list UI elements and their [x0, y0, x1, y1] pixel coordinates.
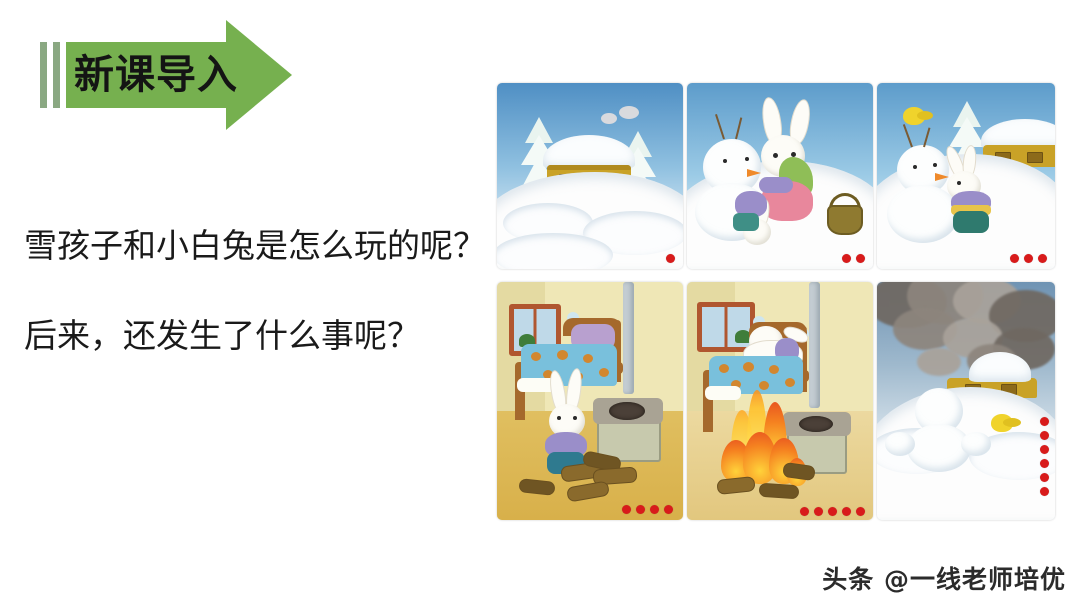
- picture-panel-6[interactable]: [877, 282, 1055, 520]
- panel-4-dots: [622, 505, 673, 514]
- dot: [828, 507, 837, 516]
- dot: [856, 507, 865, 516]
- picture-panel-4[interactable]: [497, 282, 683, 520]
- quilt-dot: [785, 378, 795, 387]
- yellow-bird-wing: [917, 111, 933, 120]
- snowman-eye-left: [913, 165, 917, 169]
- snow-child-arm-right: [961, 432, 991, 456]
- panel-6-dots: [1040, 417, 1049, 496]
- stove-pipe: [623, 282, 634, 394]
- rabbit-pants: [953, 211, 989, 233]
- rabbit-eye: [957, 181, 961, 185]
- dot: [1040, 459, 1049, 468]
- quilt-dot: [599, 368, 609, 377]
- picture-grid: [497, 83, 1055, 520]
- quilt-dot: [719, 364, 729, 373]
- question-list: 雪孩子和小白兔是怎么玩的呢？ 后来，还发生了什么事呢？: [24, 222, 484, 360]
- watermark: 头条 @一线老师培优: [822, 560, 1066, 596]
- snowman-eye-right: [933, 163, 937, 167]
- section-banner: 新课导入: [40, 20, 300, 130]
- quilt-dot: [557, 350, 568, 360]
- rabbit-eye-left: [557, 416, 561, 420]
- scene-burning-house-smoke-snowman: [877, 282, 1055, 520]
- dot: [666, 254, 675, 263]
- dot: [1040, 431, 1049, 440]
- quilt-dot: [759, 381, 769, 390]
- snowman-carrot-nose: [747, 169, 761, 177]
- scene-snow-covered-house: [497, 83, 683, 269]
- banner-accent-bar-2: [53, 42, 60, 108]
- dot: [636, 505, 645, 514]
- panel-5-dots: [800, 507, 865, 516]
- snowman-eye-left: [723, 159, 727, 163]
- scene-bedroom-fire-rabbit-sleeping: [687, 282, 873, 520]
- dot: [1040, 487, 1049, 496]
- dot: [856, 254, 865, 263]
- baby-rabbit-pants: [733, 213, 759, 231]
- house-window-2: [1027, 152, 1043, 163]
- dot: [1024, 254, 1033, 263]
- dot: [1010, 254, 1019, 263]
- quilt-dot: [743, 362, 754, 372]
- picture-panel-5[interactable]: [687, 282, 873, 520]
- quilt-dot: [583, 354, 593, 363]
- snowman-body: [887, 185, 959, 243]
- stove-opening: [609, 402, 645, 420]
- dot: [1040, 445, 1049, 454]
- snow-child-arm-left: [885, 432, 915, 456]
- panel-1-dots: [666, 254, 675, 263]
- quilt-dot: [531, 352, 541, 361]
- quilt-dot: [769, 365, 779, 374]
- dot: [842, 507, 851, 516]
- bed-sheet: [705, 386, 741, 400]
- house-eave: [547, 165, 631, 170]
- picture-panel-2[interactable]: [687, 83, 873, 269]
- basket: [827, 205, 863, 235]
- firewood-log: [759, 483, 800, 500]
- dot: [842, 254, 851, 263]
- question-line-2: 后来，还发生了什么事呢？: [24, 312, 484, 360]
- scene-rabbits-building-snowman: [687, 83, 873, 269]
- yellow-bird-wing: [1003, 418, 1021, 427]
- scene-bedroom-rabbit-adding-firewood: [497, 282, 683, 520]
- rabbit-eye-right: [573, 416, 577, 420]
- stove-opening: [799, 416, 833, 432]
- scene-snowman-with-bunny-and-bird: [877, 83, 1055, 269]
- dot: [664, 505, 673, 514]
- dot: [1040, 473, 1049, 482]
- chimney-smoke-1: [601, 113, 617, 124]
- dot: [650, 505, 659, 514]
- dot: [622, 505, 631, 514]
- dot: [800, 507, 809, 516]
- panel-2-dots: [842, 254, 865, 263]
- snowman-eye-right: [745, 157, 749, 161]
- question-line-1: 雪孩子和小白兔是怎么玩的呢？: [24, 222, 484, 270]
- window: [697, 302, 755, 352]
- mother-rabbit-eye-left: [773, 153, 778, 158]
- stove-pipe: [809, 282, 820, 408]
- banner-accent-bar-1: [40, 42, 47, 108]
- picture-panel-3[interactable]: [877, 83, 1055, 269]
- mother-rabbit-sash: [759, 177, 793, 193]
- picture-panel-1[interactable]: [497, 83, 683, 269]
- dot: [1040, 417, 1049, 426]
- chimney-smoke-2: [619, 106, 639, 119]
- smoke-cloud: [917, 348, 961, 376]
- dot: [1038, 254, 1047, 263]
- banner-title: 新课导入: [74, 42, 239, 108]
- panel-3-dots: [1010, 254, 1047, 263]
- dot: [814, 507, 823, 516]
- snowman-carrot-nose: [935, 173, 949, 181]
